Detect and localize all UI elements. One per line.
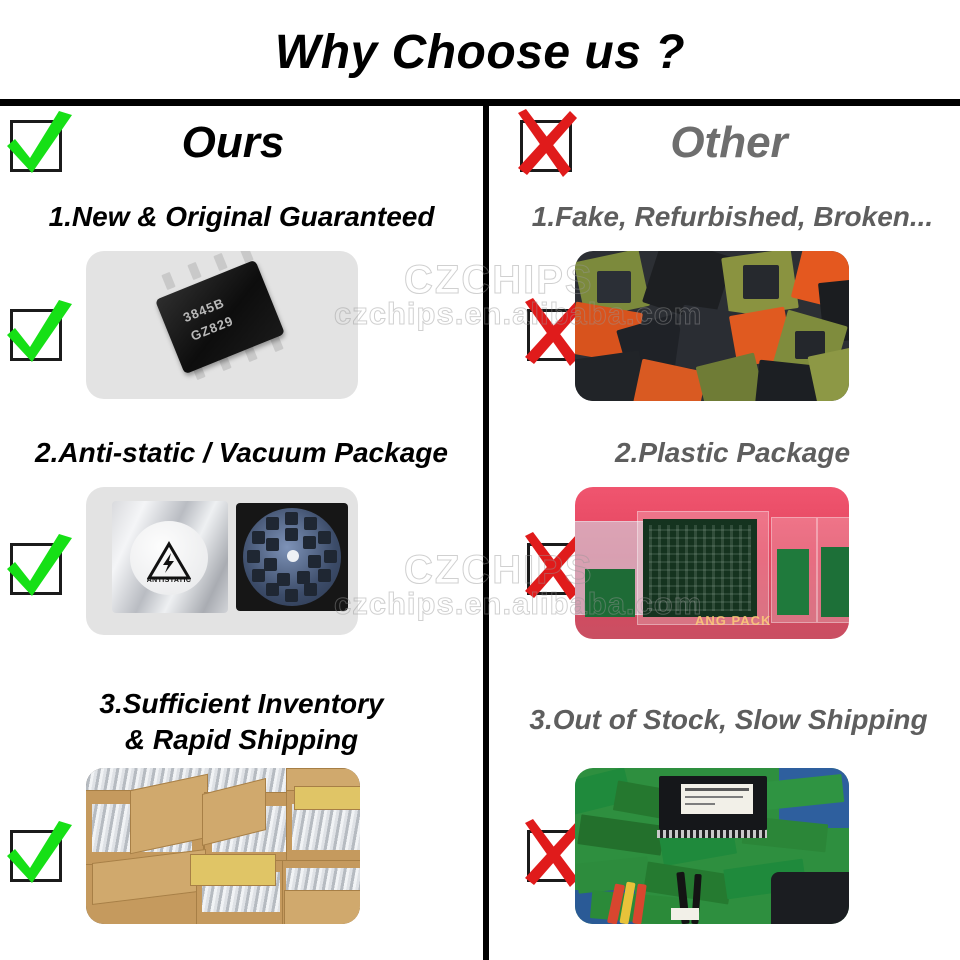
row-3-ours-text-line-2: & Rapid Shipping xyxy=(0,722,483,758)
column-label-other: Other xyxy=(519,110,939,176)
header-divider xyxy=(0,99,960,106)
row-2-ours-text: 2.Anti-static / Vacuum Package xyxy=(0,435,483,471)
row-3-other-text: 3.Out of Stock, Slow Shipping xyxy=(493,702,960,738)
row-3-ours: 3.Sufficient Inventory & Rapid Shipping xyxy=(0,672,483,960)
row-3-ours-text-line-1: 3.Sufficient Inventory xyxy=(0,686,483,722)
row-2-other: 2.Plastic Package ANG PACK xyxy=(489,425,960,655)
row-2-other-text: 2.Plastic Package xyxy=(497,435,960,471)
feature-row-2: 2.Anti-static / Vacuum Package ANTISTATI… xyxy=(0,425,960,655)
check-icon xyxy=(0,524,83,610)
row-1-ours-photo: 3845B GZ829 xyxy=(86,251,358,399)
row-3-other-photo xyxy=(575,768,849,924)
antistatic-label: ANTISTATIC xyxy=(130,577,208,584)
row-1-other-text: 1.Fake, Refurbished, Broken... xyxy=(497,199,960,235)
row-1-cross-box xyxy=(527,309,579,361)
column-header-ours: Ours xyxy=(0,106,483,180)
row-1-ours: 1.New & Original Guaranteed xyxy=(0,185,483,420)
row-3-other: 3.Out of Stock, Slow Shipping xyxy=(489,672,960,960)
row-2-other-photo: ANG PACK xyxy=(575,487,849,639)
reel-tray xyxy=(236,503,348,611)
esd-warning-icon xyxy=(147,541,191,581)
row-1-other-photo xyxy=(575,251,849,401)
antistatic-bag: ANTISTATIC xyxy=(112,501,228,613)
row-3-cross-box xyxy=(527,830,579,882)
row-2-ours: 2.Anti-static / Vacuum Package ANTISTATI… xyxy=(0,425,483,655)
row-2-check-box xyxy=(10,543,62,595)
check-icon xyxy=(0,290,83,376)
row-3-check-box xyxy=(10,830,62,882)
why-choose-us-infographic: Why Choose us ? Ours Other 1.New & Origi… xyxy=(0,0,960,960)
check-icon xyxy=(0,811,83,897)
page-title: Why Choose us ? xyxy=(0,22,960,84)
row-3-ours-photo xyxy=(86,768,360,924)
column-label-ours: Ours xyxy=(18,110,448,176)
feature-row-3: 3.Sufficient Inventory & Rapid Shipping xyxy=(0,672,960,960)
row-1-ours-text: 1.New & Original Guaranteed xyxy=(0,199,483,235)
row-1-check-box xyxy=(10,309,62,361)
row-2-ours-photo: ANTISTATIC xyxy=(86,487,358,635)
feature-row-1: 1.New & Original Guaranteed xyxy=(0,185,960,420)
column-header-other: Other xyxy=(489,106,960,180)
row-2-cross-box xyxy=(527,543,579,595)
row-1-other: 1.Fake, Refurbished, Broken... xyxy=(489,185,960,420)
ic-chip-body: 3845B GZ829 xyxy=(155,260,285,375)
